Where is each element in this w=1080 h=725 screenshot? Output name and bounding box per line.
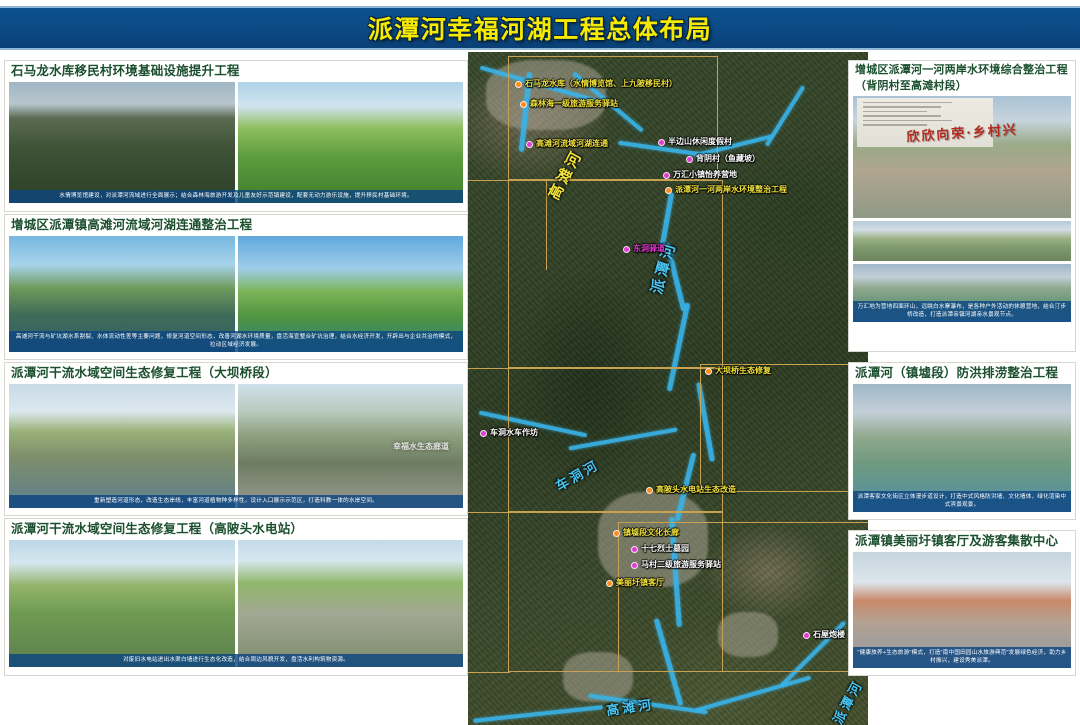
map-leader-line (468, 180, 510, 181)
left-panel-2[interactable]: 增城区派潭镇高滩河流域河湖连通整治工程 高滩河干流与矿坑湖水系割裂、水体流动性差… (4, 214, 468, 360)
image-terraced-steps[interactable] (238, 540, 464, 667)
map-marker-icon (526, 141, 533, 148)
image-riverbank-construction[interactable]: 欣欣向荣·乡村兴 (853, 96, 1071, 218)
right-panel-2-title: 派潭河（镇墟段）防洪排涝整治工程 (849, 363, 1075, 384)
map-point-label[interactable]: 万汇小镇怡养营地 (663, 171, 737, 179)
right-panel-3[interactable]: 派潭镇美丽圩镇客厅及游客集散中心 "健康旅养+生态旅游"模式，打造"南中国田园山… (848, 530, 1076, 676)
map-leader-line (468, 512, 510, 513)
map-point-label[interactable]: 车洞水车作坊 (480, 429, 538, 437)
map-marker-icon (646, 487, 653, 494)
map-leader-line (468, 368, 510, 369)
map-point-label[interactable]: 马村二级旅游服务驿站 (631, 561, 721, 569)
map-point-label-text: 森林海一级旅游服务驿站 (530, 100, 618, 108)
map-point-label[interactable]: 背阴村（鱼藏坡） (686, 155, 760, 163)
map-point-label[interactable]: 石屋炮楼 (803, 631, 845, 639)
map-callout-frame (700, 364, 868, 492)
map-marker-icon (665, 187, 672, 194)
map-point-label-text: 车洞水车作坊 (490, 429, 538, 437)
map-point-label-text: 高滩河流域河湖连通 (536, 140, 608, 148)
left-panel-3-images: 幸福水生态廊道 重新塑造河道形态，改造生态岸线，丰富河道植物种多样性，设计入口展… (5, 384, 467, 512)
map-marker-icon (515, 81, 522, 88)
left-panel-4[interactable]: 派潭河干流水域空间生态修复工程（高陂头水电站） 对废旧水电站进出水渠白墙进行生态… (4, 518, 468, 676)
map-point-label-text: 高陂头水电站生态改造 (656, 486, 736, 494)
image-watermark: 幸福水生态廊道 (393, 441, 449, 452)
left-panel-3-caption: 重新塑造河道形态，改造生态岸线，丰富河道植物种多样性，设计入口展示示范区，打造科… (9, 495, 463, 507)
map-point-label-text: 镇墟段文化长廊 (623, 529, 679, 537)
map-point-label[interactable]: 镇墟段文化长廊 (613, 529, 679, 537)
map-point-label[interactable]: 石马龙水库（水情博览馆、上九陂移民村） (515, 80, 677, 88)
image-restored-channel[interactable] (9, 384, 235, 508)
left-panel-3-title: 派潭河干流水域空间生态修复工程（大坝桥段） (5, 363, 467, 384)
map-point-label[interactable]: 十七烈士墓园 (631, 545, 689, 553)
left-panel-2-title: 增城区派潭镇高滩河流域河湖连通整治工程 (5, 215, 467, 236)
map-marker-icon (613, 530, 620, 537)
left-panel-3[interactable]: 派潭河干流水域空间生态修复工程（大坝桥段） 幸福水生态廊道 重新塑造河道形态，改… (4, 362, 468, 516)
map-point-label[interactable]: 东洞驿道 (623, 245, 665, 253)
left-panel-1[interactable]: 石马龙水库移民村环境基础设施提升工程 水情博览馆建设，对派潭河流域进行全面展示；… (4, 60, 468, 212)
map-point-label-text: 东洞驿道 (633, 245, 665, 253)
right-panel-3-title: 派潭镇美丽圩镇客厅及游客集散中心 (849, 531, 1075, 552)
right-panel-1-title-line1: 增城区派潭河一河两岸水环境综合整治工程 (849, 61, 1075, 80)
map-point-label-text: 大坝桥生态修复 (715, 367, 771, 375)
image-wide-river-village[interactable] (853, 221, 1071, 261)
left-panel-2-caption: 高滩河干流与矿坑湖水系割裂、水体流动性差等主要问题，修复河道空间形态，改善河湖水… (9, 331, 463, 352)
map-marker-icon (623, 246, 630, 253)
poster-title: 派潭河幸福河湖工程总体布局 (368, 10, 713, 46)
map-point-label-text: 石马龙水库（水情博览馆、上九陂移民村） (525, 80, 677, 88)
left-panel-4-title: 派潭河干流水域空间生态修复工程（高陂头水电站） (5, 519, 467, 540)
map-marker-icon (606, 580, 613, 587)
map-point-label[interactable]: 美丽圩镇客厅 (606, 579, 664, 587)
image-village-entrance[interactable] (9, 82, 235, 203)
right-panel-2[interactable]: 派潭河（镇墟段）防洪排涝整治工程 派潭客家文化街区立体漫步道设计，打造中式风格防… (848, 362, 1076, 520)
image-hydro-wetland[interactable] (9, 540, 235, 667)
right-panel-3-images: "健康旅养+生态旅游"模式，打造"南中国田园山水旅游典范"发展绿色经济，助力乡村… (849, 552, 1075, 672)
map-marker-icon (631, 546, 638, 553)
map-point-label-text: 半边山休闲度假村 (668, 138, 732, 146)
map-point-label[interactable]: 森林海一级旅游服务驿站 (520, 100, 618, 108)
right-panel-1-title-line2: （背阴村至高滩村段） (849, 80, 1075, 96)
map-point-label[interactable]: 派潭河一河两岸水环境整治工程 (665, 186, 787, 194)
map-leader-line (468, 672, 510, 673)
poster-title-banner: 派潭河幸福河湖工程总体布局 (0, 6, 1080, 50)
map-point-label[interactable]: 半边山休闲度假村 (658, 138, 732, 146)
map-marker-icon (686, 156, 693, 163)
map-marker-icon (631, 562, 638, 569)
map-point-label-text: 美丽圩镇客厅 (616, 579, 664, 587)
right-panel-2-images: 派潭客家文化街区立体漫步道设计，打造中式风格防洪墙、文化墙体，绿化渲染中式滨景观… (849, 384, 1075, 516)
map-point-label-text: 石屋炮楼 (813, 631, 845, 639)
map-point-label[interactable]: 高陂头水电站生态改造 (646, 486, 736, 494)
map-point-label-text: 派潭河一河两岸水环境整治工程 (675, 186, 787, 194)
satellite-map[interactable]: 高滩河派潭河车洞河高滩河派潭河 石马龙水库（水情博览馆、上九陂移民村）森林海一级… (468, 52, 868, 725)
map-point-label-text: 万汇小镇怡养营地 (673, 171, 737, 179)
map-marker-icon (658, 139, 665, 146)
left-panel-4-images: 对废旧水电站进出水渠白墙进行生态化改造，结合周边风貌开发，盘活水利构筑物资源。 (5, 540, 467, 671)
map-marker-icon (803, 632, 810, 639)
right-panel-1[interactable]: 增城区派潭河一河两岸水环境综合整治工程 （背阴村至高滩村段） 欣欣向荣·乡村兴 … (848, 60, 1076, 352)
map-marker-icon (480, 430, 487, 437)
map-callout-frame (508, 180, 723, 368)
map-marker-icon (663, 172, 670, 179)
map-marker-icon (705, 368, 712, 375)
left-panel-2-images: 高滩河干流与矿坑湖水系割裂、水体流动性差等主要问题，修复河道空间形态，改善河湖水… (5, 236, 467, 356)
map-point-label[interactable]: 高滩河流域河湖连通 (526, 140, 608, 148)
map-point-label-text: 十七烈士墓园 (641, 545, 689, 553)
right-panel-1-caption: 万汇地为营地四面环山，远眺白水寨瀑布，是各种户外活动的休憩营地，结合汀步桥改造，… (853, 301, 1071, 322)
map-point-label[interactable]: 大坝桥生态修复 (705, 367, 771, 375)
map-marker-icon (520, 101, 527, 108)
left-panel-1-caption: 水情博览馆建设，对派潭河流域进行全面展示；结合森林海旅游开发及儿童友好示范镇建设… (9, 190, 463, 202)
image-aerial-park[interactable] (238, 82, 464, 203)
left-panel-4-caption: 对废旧水电站进出水渠白墙进行生态化改造，结合周边风貌开发，盘活水利构筑物资源。 (9, 654, 463, 666)
right-panel-3-caption: "健康旅养+生态旅游"模式，打造"南中国田园山水旅游典范"发展绿色经济，助力乡村… (853, 647, 1071, 668)
image-riverside-promenade[interactable]: 幸福水生态廊道 (238, 384, 464, 508)
poster-root: 高滩河派潭河车洞河高滩河派潭河 石马龙水库（水情博览馆、上九陂移民村）森林海一级… (0, 0, 1080, 725)
left-panel-1-images: 水情博览馆建设，对派潭河流域进行全面展示；结合森林海旅游开发及儿童友好示范镇建设… (5, 82, 467, 207)
right-panel-2-caption: 派潭客家文化街区立体漫步道设计，打造中式风格防洪墙、文化墙体，绿化渲染中式滨景观… (853, 491, 1071, 512)
left-panel-1-title: 石马龙水库移民村环境基础设施提升工程 (5, 61, 467, 82)
map-point-label-text: 马村二级旅游服务驿站 (641, 561, 721, 569)
map-point-label-text: 背阴村（鱼藏坡） (696, 155, 760, 163)
